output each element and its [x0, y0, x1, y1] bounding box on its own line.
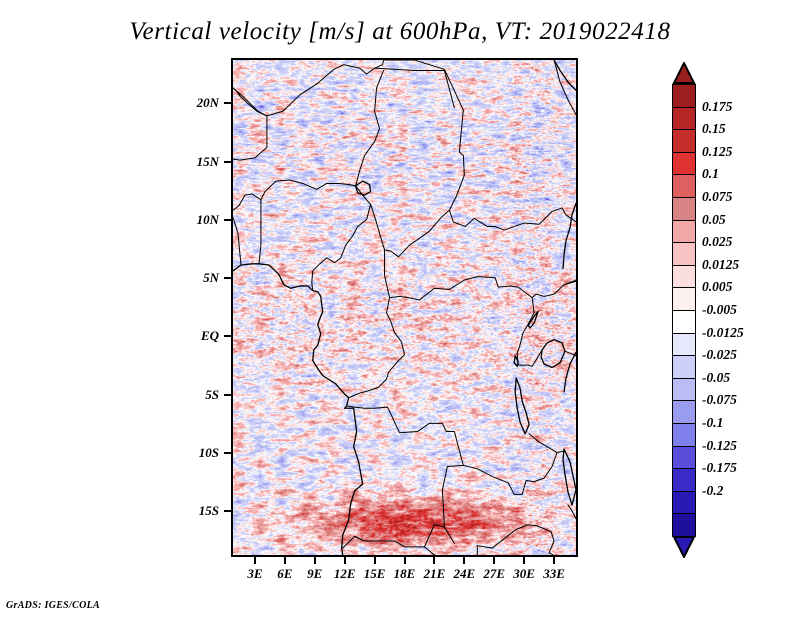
colorbar-tick-label: -0.05	[702, 370, 730, 386]
colorbar-segment[interactable]	[672, 355, 696, 379]
longitude-tick-label: 9E	[307, 566, 322, 582]
longitude-axis: 3E6E9E12E15E18E21E24E27E30E33E	[231, 557, 578, 587]
colorbar-segment[interactable]	[672, 197, 696, 221]
longitude-tick-mark	[374, 557, 376, 564]
longitude-tick-mark	[463, 557, 465, 564]
longitude-tick-label: 30E	[513, 566, 535, 582]
triangle-up-icon	[672, 62, 696, 84]
colorbar-segment[interactable]	[672, 265, 696, 289]
longitude-tick-label: 3E	[247, 566, 262, 582]
longitude-tick-label: 24E	[453, 566, 475, 582]
longitude-tick-mark	[284, 557, 286, 564]
colorbar-tick-label: 0.125	[702, 144, 732, 160]
latitude-tick-mark	[224, 219, 231, 221]
colorbar-segment[interactable]	[672, 287, 696, 311]
colorbar-tick-label: -0.125	[702, 438, 737, 454]
page-title: Vertical velocity [m/s] at 600hPa, VT: 2…	[0, 18, 800, 46]
attribution-footer: GrADS: IGES/COLA	[6, 600, 100, 611]
colorbar-tick-label: 0.15	[702, 121, 726, 137]
colorbar-segment[interactable]	[672, 491, 696, 515]
grads-plot-page: Vertical velocity [m/s] at 600hPa, VT: 2…	[0, 0, 800, 618]
colorbar-tick-label: -0.2	[702, 483, 723, 499]
colorbar-segment[interactable]	[672, 242, 696, 266]
latitude-tick-mark	[224, 335, 231, 337]
colorbar-segment[interactable]	[672, 446, 696, 470]
longitude-tick-label: 21E	[424, 566, 446, 582]
colorbar-segment[interactable]	[672, 174, 696, 198]
colorbar-tick-label: 0.025	[702, 234, 732, 250]
latitude-axis: 20N15N10N5NEQ5S10S15S	[150, 58, 231, 557]
colorbar-tick-label: 0.075	[702, 189, 732, 205]
longitude-tick-label: 12E	[334, 566, 356, 582]
colorbar-legend[interactable]: 0.1750.150.1250.10.0750.050.0250.01250.0…	[672, 62, 696, 558]
colorbar-tick-label: -0.075	[702, 392, 737, 408]
colorbar-segment[interactable]	[672, 107, 696, 131]
africa-coastline-overlay	[233, 60, 576, 555]
latitude-tick-mark	[224, 161, 231, 163]
colorbar-segment[interactable]	[672, 468, 696, 492]
longitude-tick-label: 27E	[483, 566, 505, 582]
colorbar-segment[interactable]	[672, 84, 696, 108]
colorbar-tick-label: 0.175	[702, 99, 732, 115]
triangle-down-icon	[672, 536, 696, 558]
colorbar-segment[interactable]	[672, 513, 696, 537]
latitude-tick-mark	[224, 102, 231, 104]
latitude-tick-label: 15S	[199, 503, 219, 519]
latitude-tick-mark	[224, 277, 231, 279]
colorbar-tick-label: 0.1	[702, 166, 719, 182]
colorbar-segment[interactable]	[672, 333, 696, 357]
map-plot-area[interactable]	[231, 58, 578, 557]
latitude-tick-label: 5S	[205, 387, 219, 403]
latitude-tick-mark	[224, 452, 231, 454]
latitude-tick-label: 10N	[197, 212, 219, 228]
colorbar-tick-label: -0.175	[702, 460, 737, 476]
colorbar-segment[interactable]	[672, 152, 696, 176]
longitude-tick-mark	[404, 557, 406, 564]
colorbar-tick-label: -0.025	[702, 347, 737, 363]
latitude-tick-label: EQ	[201, 328, 219, 344]
colorbar-tick-label: 0.0125	[702, 257, 739, 273]
colorbar-segment[interactable]	[672, 310, 696, 334]
colorbar-tick-label: 0.005	[702, 279, 732, 295]
colorbar-segment[interactable]	[672, 220, 696, 244]
longitude-tick-label: 6E	[277, 566, 292, 582]
longitude-tick-label: 18E	[394, 566, 416, 582]
latitude-tick-label: 10S	[199, 445, 219, 461]
longitude-tick-mark	[553, 557, 555, 564]
longitude-tick-mark	[523, 557, 525, 564]
latitude-tick-mark	[224, 394, 231, 396]
longitude-tick-mark	[433, 557, 435, 564]
colorbar-segment[interactable]	[672, 129, 696, 153]
latitude-tick-label: 20N	[197, 95, 219, 111]
longitude-tick-mark	[254, 557, 256, 564]
colorbar-tick-label: -0.1	[702, 415, 723, 431]
latitude-tick-label: 5N	[203, 270, 219, 286]
longitude-tick-label: 33E	[543, 566, 565, 582]
colorbar-tick-label: -0.005	[702, 302, 737, 318]
colorbar-segment[interactable]	[672, 423, 696, 447]
longitude-tick-label: 15E	[364, 566, 386, 582]
colorbar-segment[interactable]	[672, 378, 696, 402]
colorbar-segment[interactable]	[672, 400, 696, 424]
longitude-tick-mark	[493, 557, 495, 564]
longitude-tick-mark	[344, 557, 346, 564]
colorbar-tick-label: -0.0125	[702, 325, 744, 341]
longitude-tick-mark	[314, 557, 316, 564]
latitude-tick-label: 15N	[197, 154, 219, 170]
colorbar-tick-label: 0.05	[702, 212, 726, 228]
latitude-tick-mark	[224, 510, 231, 512]
